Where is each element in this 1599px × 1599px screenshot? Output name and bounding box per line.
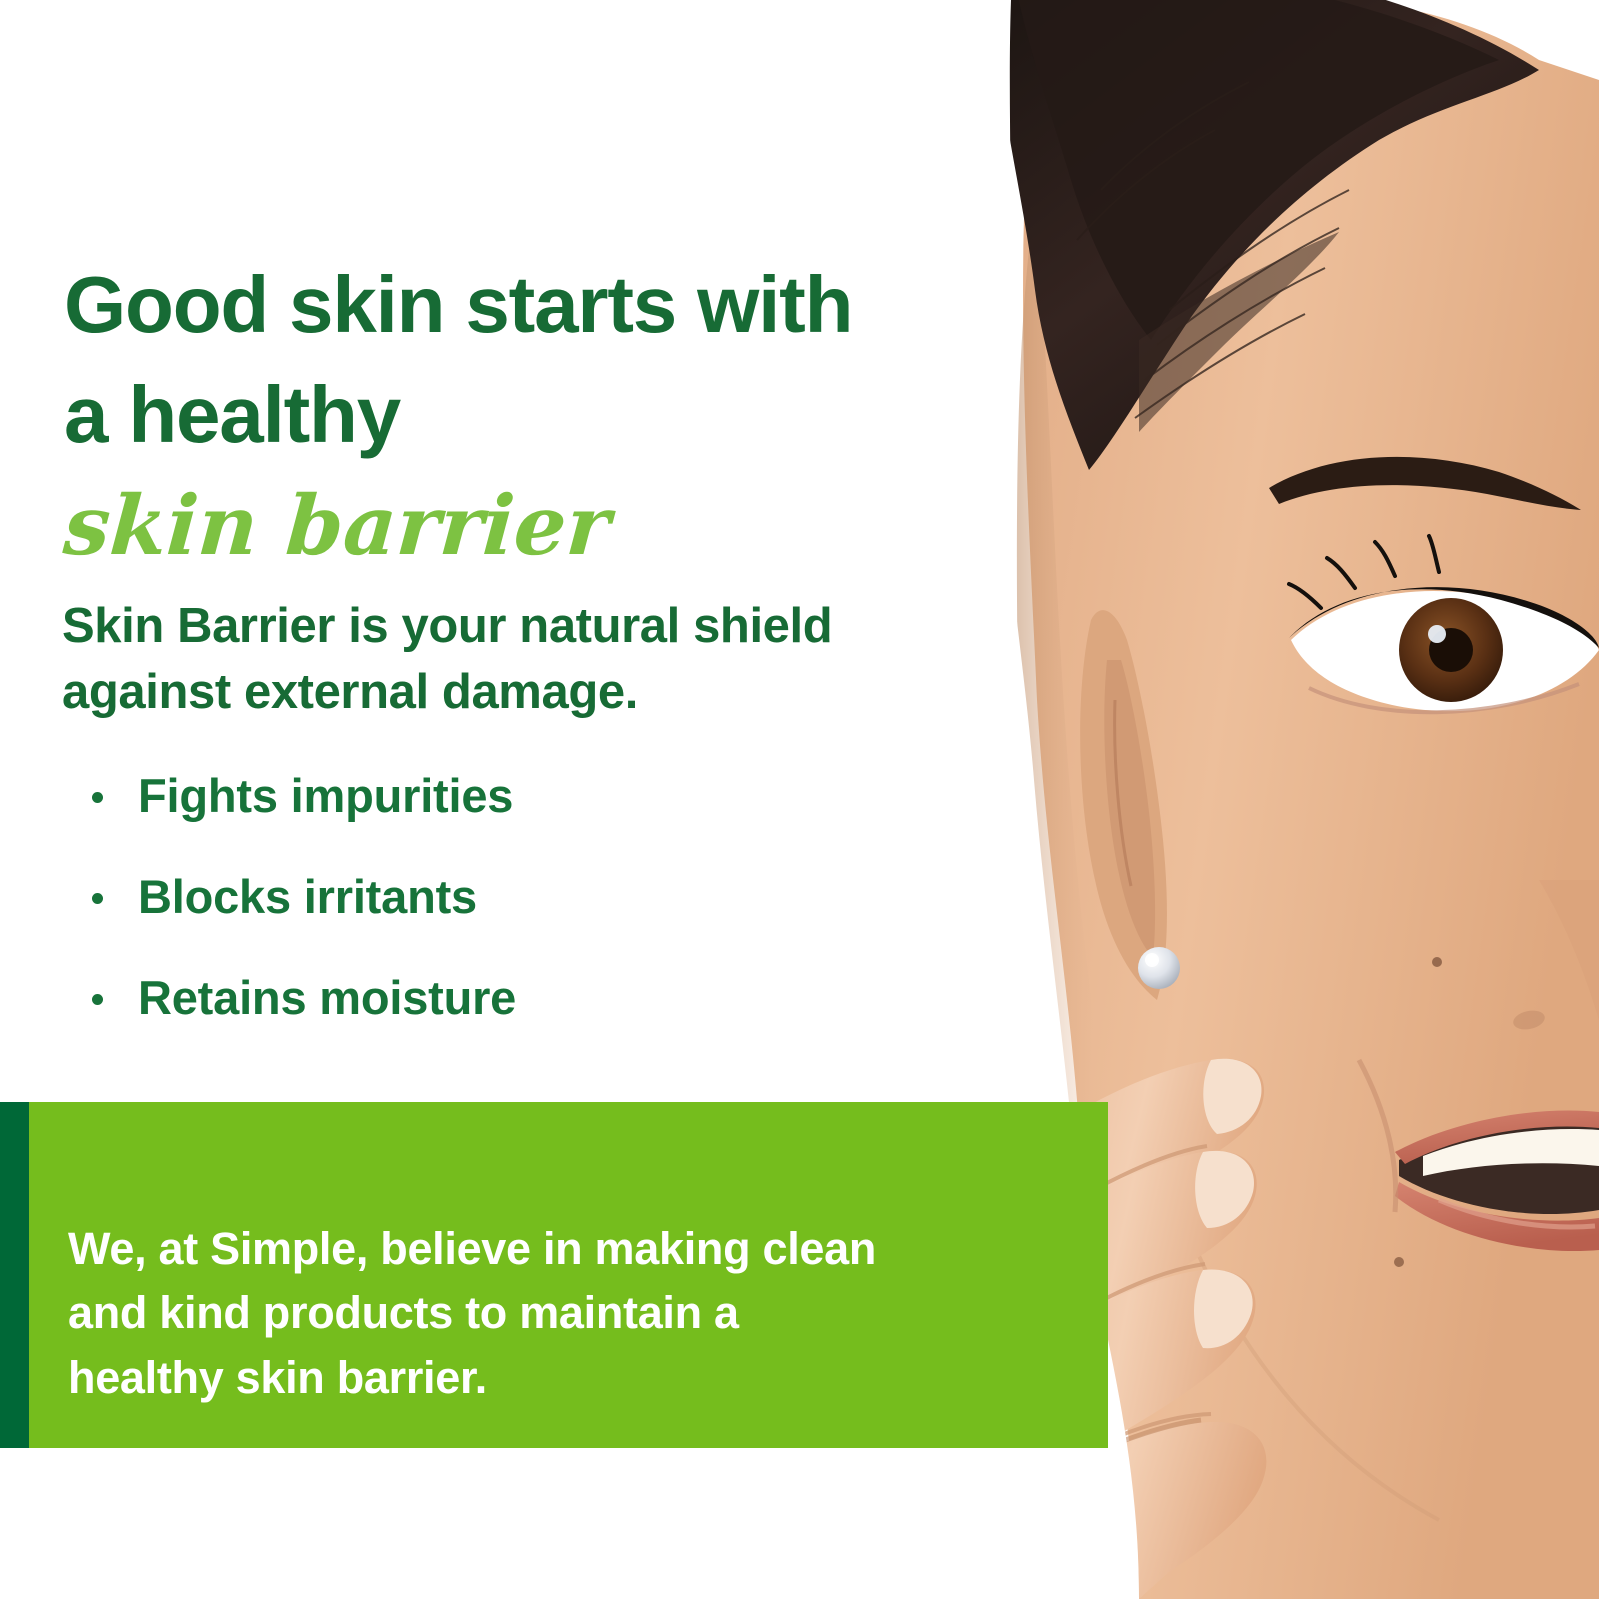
headline-line-1: Good skin starts with (64, 260, 852, 349)
list-item: Fights impurities (86, 772, 886, 819)
benefit-label: Blocks irritants (138, 870, 477, 923)
list-item: Blocks irritants (86, 873, 886, 920)
banner-accent-stripe (0, 1102, 29, 1448)
brand-statement-banner: We, at Simple, believe in making clean a… (0, 1102, 1108, 1448)
subhead-text: Skin Barrier is your natural shield agai… (62, 594, 922, 725)
skincare-ad-creative: Good skin starts with a healthy skin bar… (0, 0, 1599, 1599)
beauty-mark (1394, 1257, 1404, 1267)
headline-script-accent: skin barrier (60, 470, 614, 583)
page-title: Good skin starts with a healthy skin bar… (64, 250, 964, 584)
benefit-label: Retains moisture (138, 971, 516, 1024)
benefit-label: Fights impurities (138, 769, 513, 822)
bullet-dot-icon (92, 792, 103, 803)
bullet-dot-icon (92, 893, 103, 904)
bullet-dot-icon (92, 994, 103, 1005)
eye-highlight (1428, 625, 1446, 643)
list-item: Retains moisture (86, 974, 886, 1021)
benefits-list: Fights impurities Blocks irritants Retai… (86, 772, 886, 1021)
pearl-earring (1138, 947, 1180, 989)
banner-statement-text: We, at Simple, believe in making clean a… (68, 1217, 898, 1410)
headline-line-2-plain: a healthy (64, 370, 400, 459)
beauty-mark (1432, 957, 1442, 967)
pearl-highlight (1145, 953, 1159, 967)
